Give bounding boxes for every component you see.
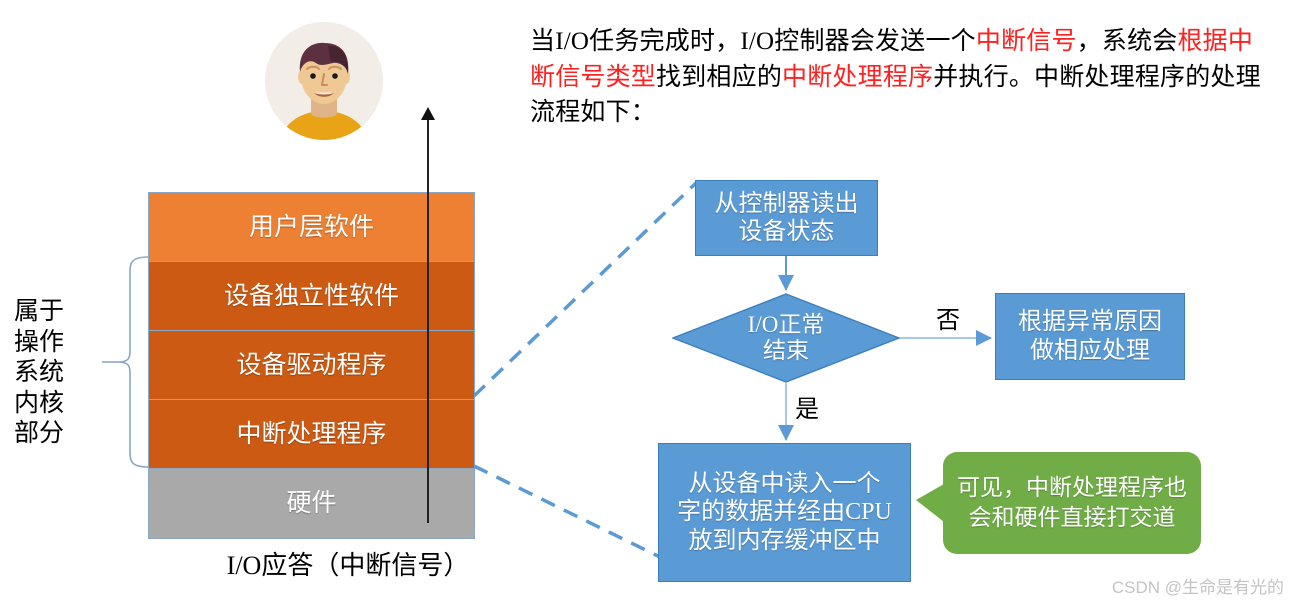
read-word-line3: 放到内存缓冲区中 [689,528,881,554]
read-status-line1: 从控制器读出 [715,191,859,217]
intro-seg-2: ，系统会 [1077,28,1178,55]
flow-node-handle-exception[interactable]: 根据异常原因 做相应处理 [995,293,1185,380]
intro-seg-0: 当I/O任务完成时，I/O控制器会发送一个 [530,28,976,55]
read-word-line1: 从设备中读入一个 [689,471,881,497]
annotation-callout-text: 可见，中断处理程序也 会和硬件直接打交道 [957,473,1187,533]
kernel-scope-label: 属于操作系统内核部分 [14,297,88,450]
read-word-line2: 字的数据并经由CPU [677,499,892,525]
stack-layer-hardware[interactable]: 硬件 [149,469,474,538]
stack-layer-interrupt-handler[interactable]: 中断处理程序 [149,400,474,469]
stack-layer-device-independent-software[interactable]: 设备独立性软件 [149,262,474,331]
callout-line1: 可见，中断处理程序也 [957,475,1187,500]
callout-line2: 会和硬件直接打交道 [969,505,1176,530]
user-avatar-icon [265,22,383,140]
avatar-illustration [265,22,383,140]
stack-caption: I/O应答（中断信号） [148,545,548,582]
slide-canvas: 当I/O任务完成时，I/O控制器会发送一个中断信号，系统会根据中断信号类型找到相… [0,0,1298,604]
decision-line1: I/O正常 [748,312,825,337]
stack-layer-device-driver[interactable]: 设备驱动程序 [149,331,474,400]
bracket-shape [96,256,148,468]
flow-node-read-device-status-label: 从控制器读出 设备状态 [715,190,859,247]
dashed-connector-top [474,182,697,396]
stack-layer-user-software[interactable]: 用户层软件 [149,193,474,262]
flow-node-read-word-to-buffer[interactable]: 从设备中读入一个 字的数据并经由CPU 放到内存缓冲区中 [658,443,911,582]
read-status-line2: 设备状态 [739,219,835,245]
flow-node-io-normal-decision-label: I/O正常 结束 [672,293,900,383]
decision-line2: 结束 [763,338,809,363]
intro-paragraph: 当I/O任务完成时，I/O控制器会发送一个中断信号，系统会根据中断信号类型找到相… [530,24,1275,131]
upward-response-arrow [427,118,429,523]
flow-node-read-device-status[interactable]: 从控制器读出 设备状态 [695,180,878,256]
flow-node-read-word-to-buffer-label: 从设备中读入一个 字的数据并经由CPU 放到内存缓冲区中 [677,470,892,555]
intro-seg-4: 找到相应的 [656,64,782,91]
io-software-layer-stack: 用户层软件 设备独立性软件 设备驱动程序 中断处理程序 硬件 [148,192,475,539]
intro-seg-5-highlight: 中断处理程序 [782,64,933,91]
kernel-scope-bracket [96,256,148,468]
csdn-watermark: CSDN @生命是有光的 [1112,573,1284,598]
flow-node-io-normal-decision[interactable]: I/O正常 结束 [672,293,900,383]
annotation-callout: 可见，中断处理程序也 会和硬件直接打交道 [943,452,1201,554]
flow-node-handle-exception-label: 根据异常原因 做相应处理 [1018,308,1162,365]
intro-seg-1-highlight: 中断信号 [976,28,1077,55]
error-line2: 做相应处理 [1030,338,1150,364]
edge-label-yes: 是 [795,389,819,424]
edge-label-no: 否 [936,300,960,335]
error-line1: 根据异常原因 [1018,309,1162,335]
